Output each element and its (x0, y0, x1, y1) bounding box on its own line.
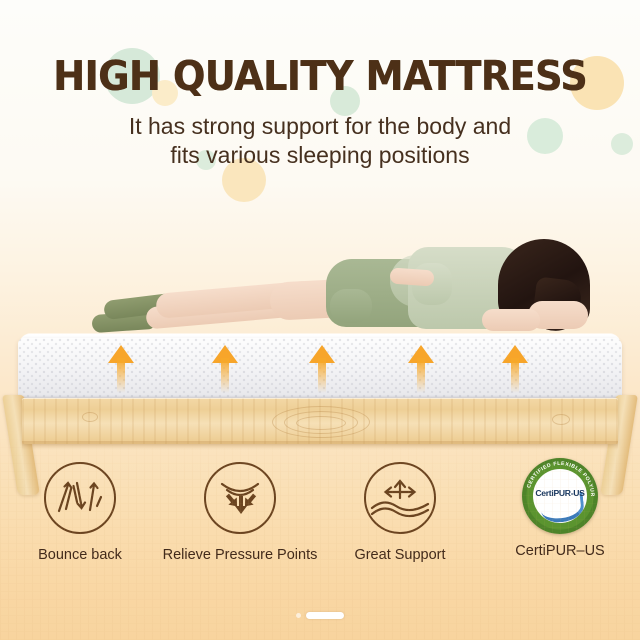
feature-relieve-pressure-points[interactable]: Relieve Pressure Points (160, 462, 320, 564)
subtitle-line-1: It has strong support for the body and (0, 112, 640, 141)
product-detail-slide: HIGH QUALITY MATTRESS It has strong supp… (0, 0, 640, 640)
feature-label: Great Support (354, 547, 445, 564)
page-title: HIGH QUALITY MATTRESS (22, 52, 617, 100)
wood-grain (552, 414, 570, 425)
arm (389, 267, 434, 286)
header-block: HIGH QUALITY MATTRESS It has strong supp… (0, 0, 640, 200)
feature-certipur-us[interactable]: CERTIFIED FLEXIBLE POLYURETHANE FOAM www… (480, 462, 640, 560)
shorts-cuff (330, 289, 372, 323)
support-waves-icon (364, 462, 436, 534)
wooden-bed-frame (22, 398, 618, 444)
feature-bounce-back[interactable]: Bounce back (0, 462, 160, 564)
page-subtitle: It has strong support for the body and f… (0, 112, 640, 170)
certipur-badge-icon: CERTIFIED FLEXIBLE POLYURETHANE FOAM www… (522, 458, 598, 534)
badge-brand-text: CertiPUR-US (533, 488, 587, 498)
pager-active-indicator[interactable] (306, 612, 344, 619)
wood-grain (82, 412, 98, 422)
subtitle-line-2: fits various sleeping positions (0, 141, 640, 170)
shoulder (482, 309, 540, 331)
feature-list: Bounce back Relieve Pressure Points (0, 462, 640, 602)
woman-lying-on-side (90, 235, 560, 345)
pressure-arrows-icon (204, 462, 276, 534)
carousel-pager[interactable] (0, 607, 640, 623)
support-arrow (309, 345, 335, 393)
feature-label: Relieve Pressure Points (163, 547, 318, 564)
badge-inner-circle: CertiPUR-US (533, 469, 587, 523)
support-arrow (408, 345, 434, 393)
pager-dot[interactable] (296, 613, 301, 618)
feature-label: Bounce back (38, 547, 122, 564)
frame-shadow (22, 441, 618, 450)
support-arrow (212, 345, 238, 393)
feature-label: CertiPUR–US (515, 543, 604, 560)
support-arrow (108, 345, 134, 393)
feature-great-support[interactable]: Great Support (320, 462, 480, 564)
bounce-arrows-icon (44, 462, 116, 534)
wood-grain (296, 416, 346, 430)
support-arrow (502, 345, 528, 393)
